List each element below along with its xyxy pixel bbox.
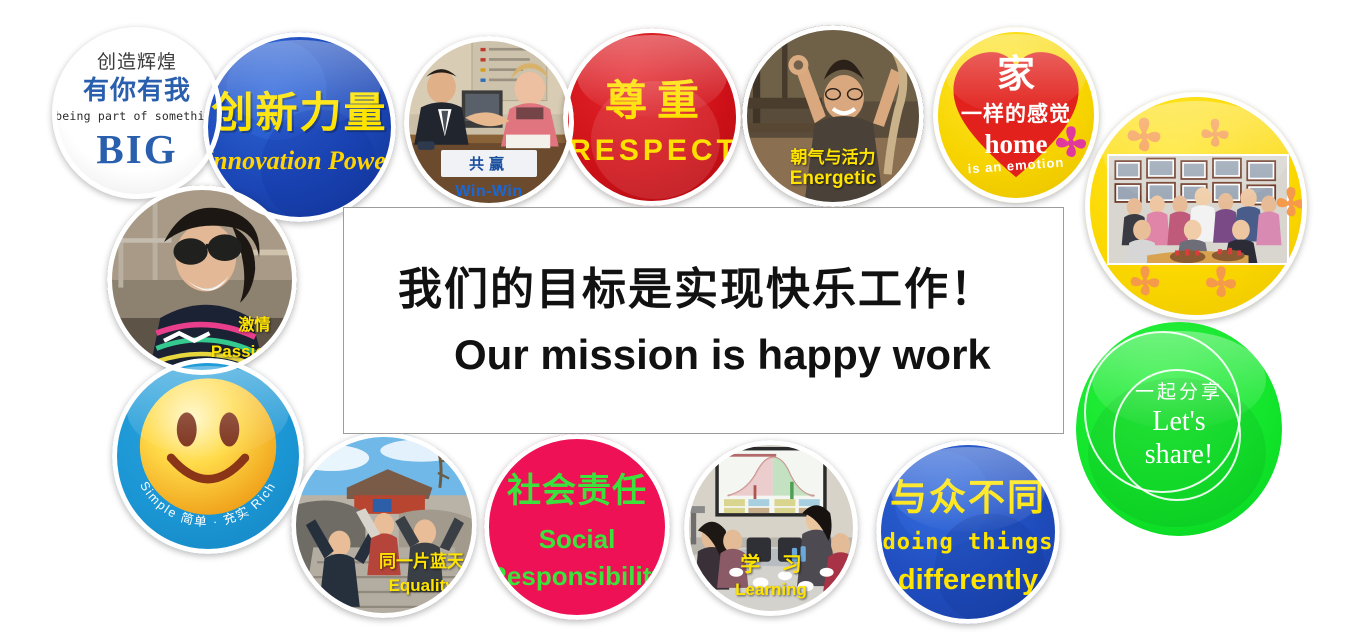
- badge-learning-line2: Learning: [684, 580, 858, 600]
- badge-passion-line1: 激情: [238, 311, 270, 335]
- badge-innovation-line1: 创新力量: [211, 79, 387, 140]
- svg-text:Simple 简单 · 充实 Rich: Simple 简单 · 充实 Rich: [137, 479, 279, 529]
- badge-big-line1: 创造辉煌: [97, 53, 177, 74]
- badge-different-line1: 与众不同: [890, 467, 1046, 521]
- badge-different-line2: doing things: [883, 530, 1054, 555]
- badge-learning-line1: 学 习: [684, 548, 858, 577]
- flower-icon: [1050, 122, 1092, 164]
- group-photo: [1107, 154, 1289, 265]
- badge-share-line3: share!: [1145, 439, 1213, 471]
- share-text-stack: 一起分享 Let's share!: [1135, 377, 1223, 471]
- smiley-arc-caption: Simple 简单 · 充实 Rich: [112, 358, 304, 554]
- badge-innovation-power[interactable]: 创新力量 Innovation Power: [203, 32, 396, 222]
- badge-smiley-caption: Simple 简单 · 充实 Rich: [137, 479, 279, 529]
- badge-energetic[interactable]: 朝气与活力 Energetic: [742, 25, 924, 207]
- badge-simple-and-rich-smiley[interactable]: Simple 简单 · 充实 Rich: [112, 358, 304, 554]
- badge-energetic-line2: Energetic: [790, 168, 877, 190]
- badge-social-line3: Responsibility: [488, 561, 666, 592]
- badge-big-line4: BIG: [96, 125, 177, 173]
- badge-winwin-line2: Win-Win: [404, 183, 574, 201]
- badge-winwin-line1: 共赢: [469, 153, 509, 174]
- badge-equality-line1: 同一片蓝天: [379, 547, 464, 572]
- badge-home-line1: 家: [997, 56, 1035, 94]
- badge-different-line3: differently: [898, 564, 1038, 597]
- handshake-photo: [404, 36, 574, 206]
- badge-respect-line2: RESPECT: [565, 134, 739, 168]
- mission-chinese: 我们的目标是实现快乐工作！: [398, 262, 1063, 317]
- flower-icon: [1196, 115, 1234, 153]
- badge-team-family-photo[interactable]: [1085, 92, 1307, 320]
- badge-social-line1: 社会责任: [507, 463, 647, 512]
- badge-share-line2: Let's: [1152, 406, 1205, 438]
- flower-icon: [1121, 113, 1167, 159]
- badge-win-win[interactable]: 共赢 Win-Win: [404, 36, 574, 208]
- badge-energetic-line1: 朝气与活力: [791, 143, 876, 168]
- flower-icon: [1271, 183, 1307, 223]
- mission-english: Our mission is happy work: [454, 331, 1063, 379]
- win-win-plate: 共赢: [441, 150, 536, 178]
- flower-icon: [1125, 262, 1165, 302]
- badge-equality[interactable]: 同一片蓝天 Equality: [291, 432, 477, 618]
- mission-panel: 我们的目标是实现快乐工作！ Our mission is happy work: [343, 207, 1064, 434]
- values-banner: 创造辉煌 有你有我 being part of something BIG 创新…: [0, 0, 1366, 635]
- badge-big-line2: 有你有我: [83, 76, 191, 105]
- badge-home-line3: home: [985, 129, 1048, 160]
- badge-share-line1: 一起分享: [1135, 377, 1223, 404]
- badge-respect-line1: 尊重: [595, 67, 709, 128]
- badge-social-line2: Social: [539, 524, 616, 555]
- badge-learning[interactable]: 学 习 Learning: [684, 440, 858, 616]
- flower-icon: [1200, 262, 1242, 304]
- badge-big-line3: being part of something: [55, 109, 219, 123]
- badge-respect[interactable]: 尊重 RESPECT: [563, 28, 741, 206]
- badge-innovation-line2: Innovation Power: [203, 146, 396, 176]
- badge-home-is-an-emotion[interactable]: 家 一样的感觉 home is an emotion: [933, 27, 1099, 203]
- badge-being-part-of-something-big[interactable]: 创造辉煌 有你有我 being part of something BIG: [52, 27, 222, 199]
- badge-lets-share[interactable]: 一起分享 Let's share!: [1076, 322, 1282, 536]
- badge-equality-line2: Equality: [389, 576, 455, 596]
- badge-social-responsibility[interactable]: 社会责任 Social Responsibility: [484, 434, 670, 620]
- badge-doing-things-differently[interactable]: 与众不同 doing things differently: [876, 440, 1060, 624]
